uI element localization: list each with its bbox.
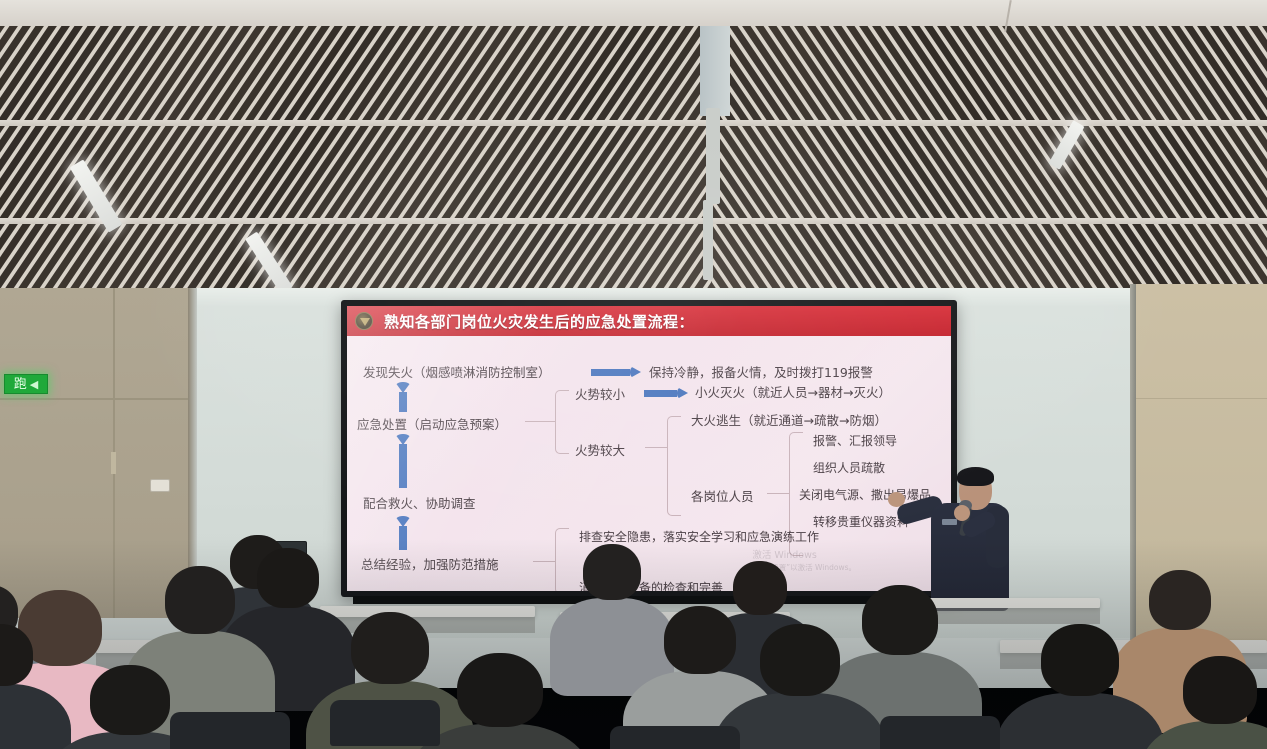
ceiling-slat-band-0-R <box>712 26 1267 124</box>
ceiling-pipe <box>706 108 720 204</box>
ceiling-slat-band-1-R <box>712 126 1267 222</box>
connector-big-fire <box>645 447 667 448</box>
presenter-right-hand <box>954 505 970 521</box>
slide-surface: 熟知各部门岗位火灾发生后的应急处置流程： 发现失火（烟感喷淋消防控制室） 保持冷… <box>347 306 951 591</box>
attendee-mid-left-dark2-head <box>90 665 170 735</box>
brace-fire-size <box>555 390 569 454</box>
brace-summary <box>555 528 569 591</box>
chair-back-1 <box>170 712 290 749</box>
chair-back-3 <box>610 726 740 749</box>
desk-mid-left <box>320 606 535 617</box>
arrow-down-3 <box>395 516 411 550</box>
big-fire-close: ） <box>874 413 887 428</box>
wood-slat-ceiling <box>0 0 1267 292</box>
big-fire-red-2: 防烟 <box>849 413 874 428</box>
line-emergency-action: 应急处置（启动应急预案） <box>357 414 507 433</box>
presenter-left-hand <box>888 492 905 507</box>
desk-mid-left-apron <box>320 617 535 633</box>
small-fire-red-2: 灭火 <box>853 385 878 400</box>
door-handle[interactable] <box>111 452 116 474</box>
attendee-right-of-centre-head <box>862 585 938 655</box>
line-summary-1: 排查安全隐患，落实安全学习和应急演练工作 <box>579 528 819 545</box>
arrow-down-2 <box>395 434 411 488</box>
connector-summary <box>533 561 555 562</box>
wall-socket[interactable] <box>150 479 170 492</box>
brace-big-fire <box>667 416 681 516</box>
attendee-front-centre-right-head <box>760 624 840 696</box>
emergency-exit-sign: 跑 ◀ <box>4 374 48 394</box>
small-fire-rest: （就近人员→器材→ <box>745 385 853 400</box>
arrow-right-1 <box>591 366 641 379</box>
attendee-black-logo-tee-head <box>257 548 319 608</box>
fire-safety-emblem-icon <box>355 312 373 330</box>
line-staff-2: 组织人员疏散 <box>813 459 885 476</box>
left-wall-panel <box>0 288 196 618</box>
big-fire-red-1: 大火逃生 <box>691 413 741 428</box>
small-fire-red-1: 小火灭火 <box>695 385 745 400</box>
connector-staff <box>767 493 789 494</box>
chair-back-2 <box>330 700 440 746</box>
attendee-right-dark-tee-head <box>1041 624 1119 696</box>
presentation-display[interactable]: 熟知各部门岗位火灾发生后的应急处置流程： 发现失火（烟感喷淋消防控制室） 保持冷… <box>341 300 957 597</box>
ceiling-skylight-slot <box>700 26 730 116</box>
right-wall-seam <box>1136 398 1267 399</box>
attendee-right-olive-head <box>1183 656 1257 724</box>
connector-emergency <box>525 421 555 422</box>
line-big-fire-action: 大火逃生（就近通道→疏散→防烟） <box>691 410 887 429</box>
line-keep-calm: 保持冷静，报备火情，及时拨打119报警 <box>649 362 873 381</box>
slide-title-bar: 熟知各部门岗位火灾发生后的应急处置流程： <box>347 306 951 336</box>
presenter-hair <box>957 467 994 486</box>
left-wall-seam-horizontal <box>0 398 190 400</box>
line-big-fire: 火势较大 <box>575 440 625 459</box>
line-assist: 配合救火、协助调查 <box>363 493 476 512</box>
small-fire-close: ） <box>878 385 891 400</box>
ceiling-pipe-lower <box>703 200 713 280</box>
ceiling-top-edge <box>0 0 1267 26</box>
chair-back-4 <box>880 716 1000 749</box>
display-bottom-bezel <box>353 596 945 604</box>
line-staff-1: 报警、汇报领导 <box>813 432 897 449</box>
line-staff-3: 关闭电气源、撒出易爆品 <box>799 486 931 503</box>
attendee-striped-shirt-head <box>583 544 641 600</box>
exit-runner-icon: 跑 <box>14 378 27 391</box>
line-small-fire-action: 小火灭火（就近人员→器材→灭火） <box>695 382 891 401</box>
attendee-centre-dark-head <box>457 653 543 727</box>
attendee-far-right-plaid-head <box>1149 570 1211 630</box>
training-room-photo: 跑 ◀ 熟知各部门岗位火灾发生后的应急处置流程： 发现失火（烟感喷淋消防控制室）… <box>0 0 1267 749</box>
line-summary: 总结经验，加强防范措施 <box>361 554 499 573</box>
attendee-olive-shirt-head <box>351 612 429 684</box>
line-post-staff: 各岗位人员 <box>691 486 754 505</box>
ceiling-slat-band-0-L <box>0 26 712 124</box>
attendee-grey-tshirt-head <box>165 566 235 634</box>
attendee-bun-hair-head <box>733 561 787 615</box>
big-fire-rest: （就近通道→疏散→ <box>741 413 849 428</box>
attendee-grey-top-mid-head <box>664 606 736 674</box>
exit-arrow-icon: ◀ <box>30 378 38 391</box>
slide-body: 发现失火（烟感喷淋消防控制室） 保持冷静，报备火情，及时拨打119报警 应急处置… <box>347 336 951 591</box>
line-staff-4: 转移贵重仪器资料 <box>813 513 909 530</box>
line-discover-fire: 发现失火（烟感喷淋消防控制室） <box>363 362 551 381</box>
presenter-chest-badge <box>942 519 957 525</box>
arrow-down-1 <box>395 382 411 412</box>
slide-title-text: 熟知各部门岗位火灾发生后的应急处置流程： <box>384 311 694 332</box>
ceiling-slat-band-2-L <box>0 224 712 292</box>
ceiling-slat-band-2-R <box>712 224 1267 292</box>
line-small-fire: 火势较小 <box>575 384 625 403</box>
arrow-right-2 <box>644 387 688 400</box>
